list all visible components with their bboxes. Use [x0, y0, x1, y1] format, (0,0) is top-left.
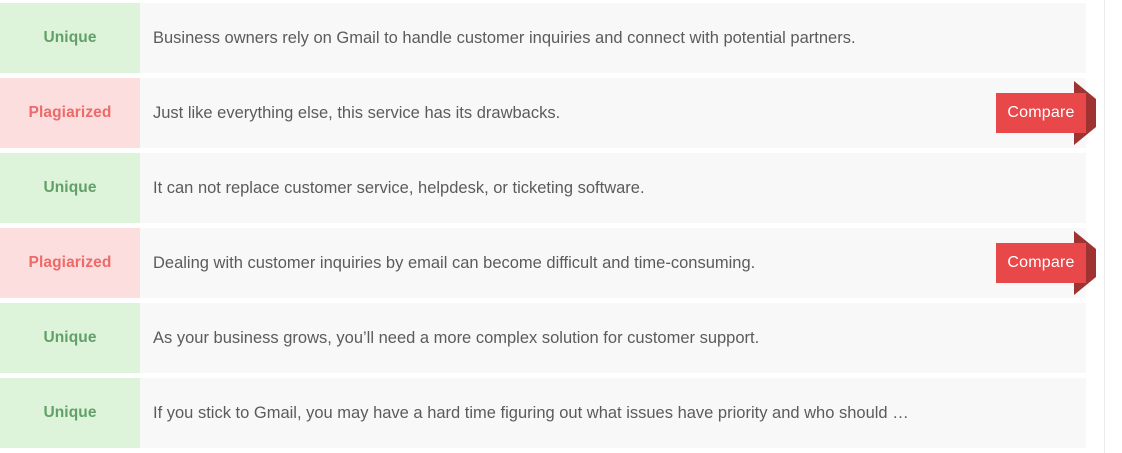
- sentence-text: If you stick to Gmail, you may have a ha…: [140, 378, 1086, 448]
- status-badge: Plagiarized: [0, 78, 140, 148]
- compare-button[interactable]: Compare: [996, 77, 1104, 149]
- sentence-text: It can not replace customer service, hel…: [140, 153, 1086, 223]
- status-badge: Plagiarized: [0, 228, 140, 298]
- plagiarism-sentence-report: UniqueBusiness owners rely on Gmail to h…: [0, 0, 1122, 453]
- table-row[interactable]: PlagiarizedJust like everything else, th…: [0, 78, 1086, 148]
- status-badge: Unique: [0, 153, 140, 223]
- sentence-text: As your business grows, you’ll need a mo…: [140, 303, 1086, 373]
- table-row[interactable]: UniqueIt can not replace customer servic…: [0, 153, 1086, 223]
- table-row[interactable]: PlagiarizedDealing with customer inquiri…: [0, 228, 1086, 298]
- status-badge: Unique: [0, 303, 140, 373]
- scroll-gutter-divider: [1104, 0, 1105, 453]
- ribbon-arrow-icon: [996, 227, 1104, 299]
- sentence-text: Business owners rely on Gmail to handle …: [140, 3, 1086, 73]
- sentence-text: Just like everything else, this service …: [140, 78, 1086, 148]
- table-row[interactable]: UniqueBusiness owners rely on Gmail to h…: [0, 3, 1086, 73]
- ribbon-arrow-icon: [996, 77, 1104, 149]
- sentence-text: Dealing with customer inquiries by email…: [140, 228, 1086, 298]
- compare-button[interactable]: Compare: [996, 227, 1104, 299]
- status-badge: Unique: [0, 378, 140, 448]
- status-badge: Unique: [0, 3, 140, 73]
- table-row[interactable]: UniqueIf you stick to Gmail, you may hav…: [0, 378, 1086, 448]
- table-row[interactable]: UniqueAs your business grows, you’ll nee…: [0, 303, 1086, 373]
- sentence-row-list: UniqueBusiness owners rely on Gmail to h…: [0, 3, 1086, 453]
